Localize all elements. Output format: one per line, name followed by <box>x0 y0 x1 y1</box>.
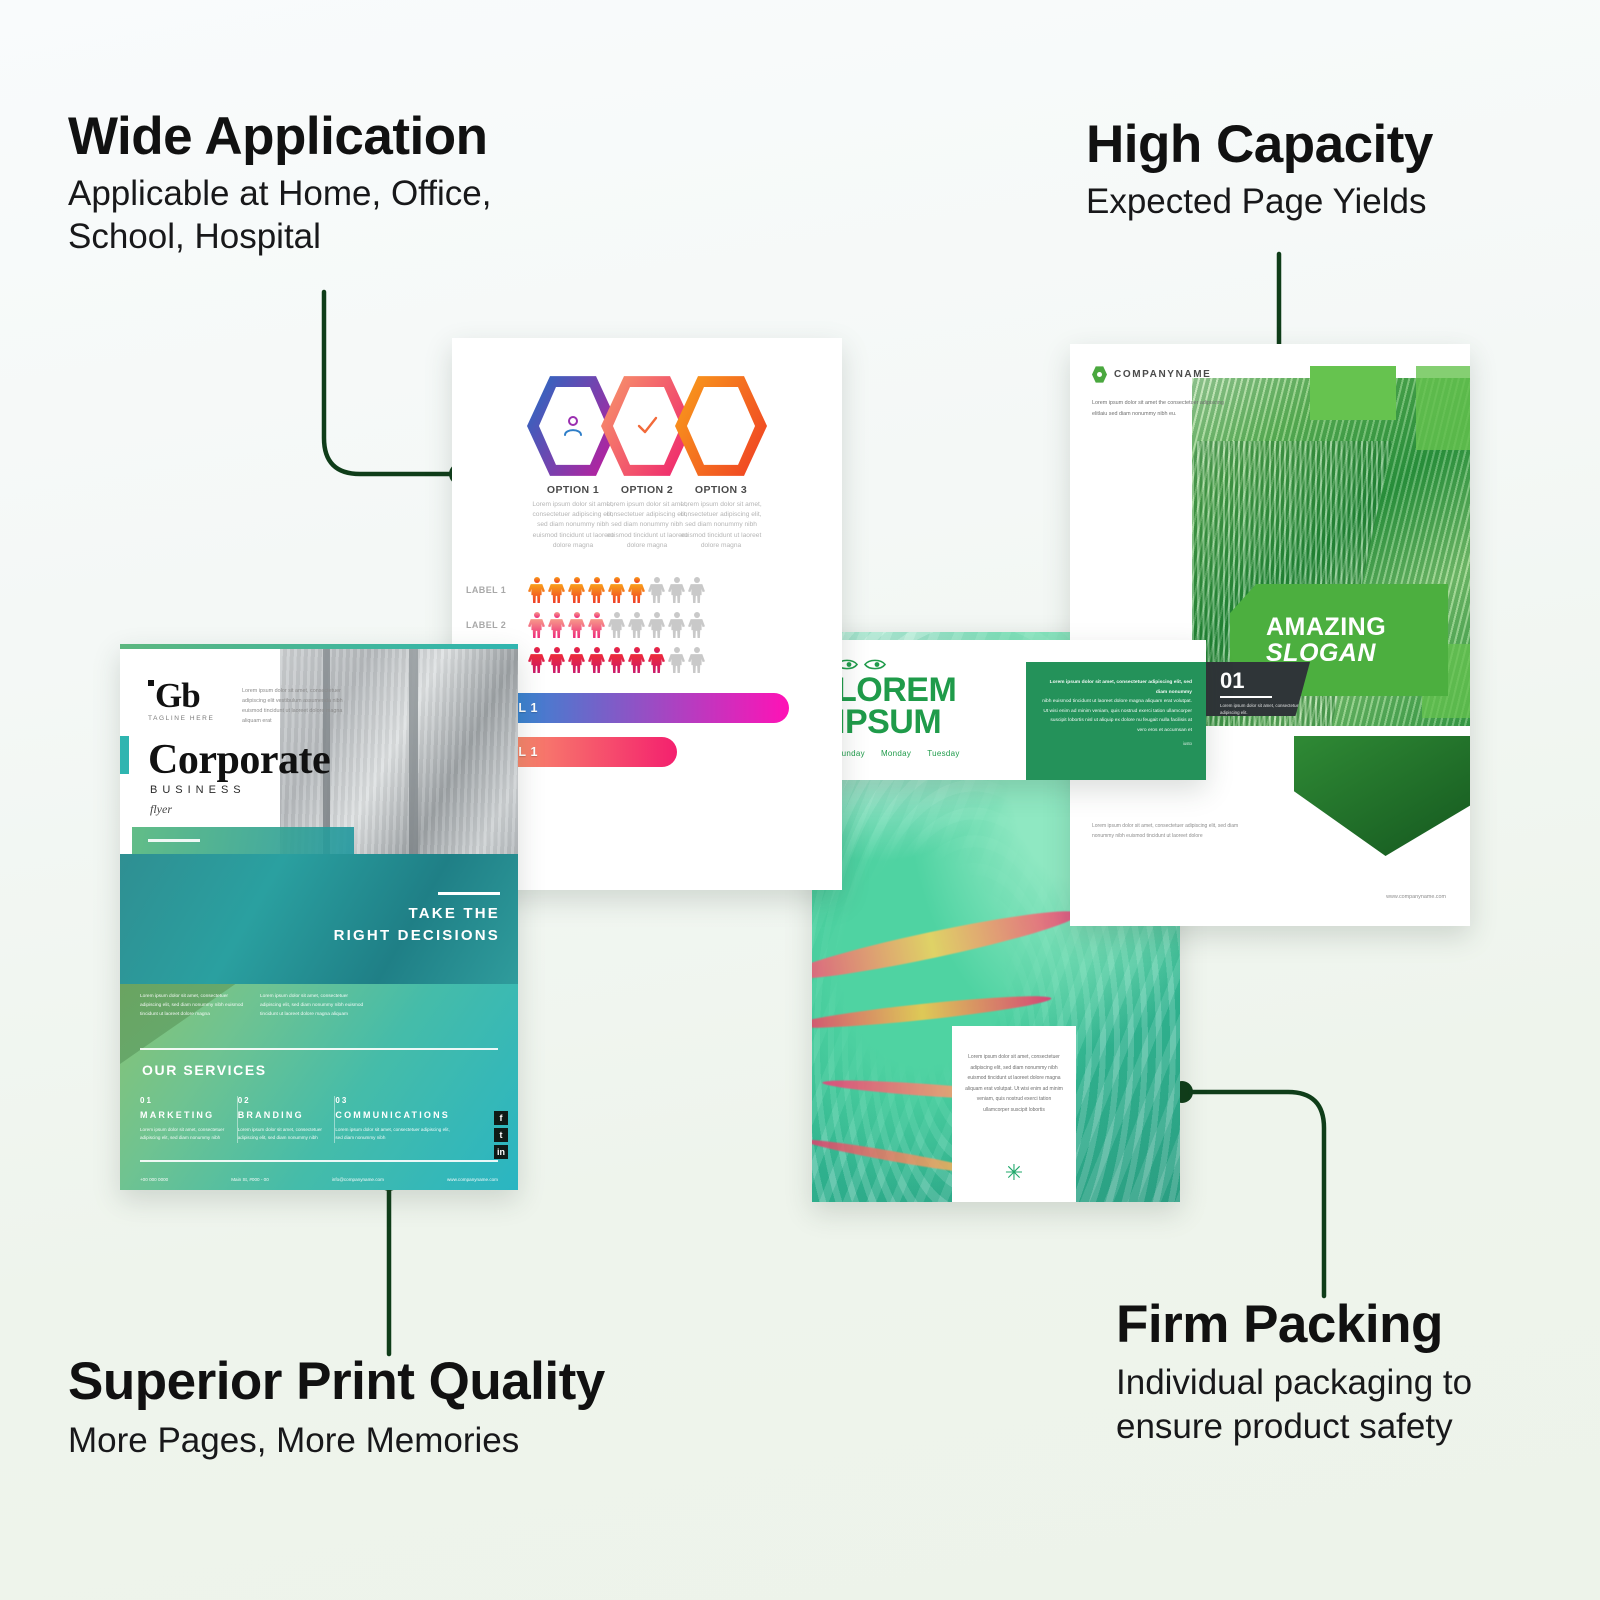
feature-title: Wide Application <box>68 110 491 163</box>
feature-subtitle: Expected Page Yields <box>1086 181 1433 224</box>
brochure-logo: COMPANYNAME <box>1092 366 1211 383</box>
lorem-body: nibh euismod tincidunt ut laoreet dolore… <box>1040 697 1192 735</box>
brochure-number-badge: 01 Lorem ipsum dolor sit amet, consectet… <box>1206 662 1310 716</box>
corp-service-2: 02 BRANDING Lorem ipsum dolor sit amet, … <box>238 1096 336 1143</box>
hexagon-row <box>452 374 842 478</box>
corp-separator-bottom <box>140 1160 498 1162</box>
person-icon-filled <box>588 577 605 603</box>
lorem-right-panel: Lorem ipsum dolor sit amet, consectetuer… <box>1026 662 1206 780</box>
corp-service-name-2: BRANDING <box>238 1110 325 1120</box>
lorem-left-panel: LOREM IPSUM Sunday Monday Tuesday <box>814 640 1030 780</box>
person-icon-empty <box>648 577 665 603</box>
corp-footer-web: www.companyname.com <box>447 1177 498 1182</box>
feature-subtitle: More Pages, More Memories <box>68 1420 605 1463</box>
twitter-icon[interactable]: t <box>494 1128 508 1142</box>
corp-decisions-line2: RIGHT DECISIONS <box>334 925 500 947</box>
lorem-days: Sunday Monday Tuesday <box>836 749 1030 758</box>
lorem-page: iusto <box>1040 741 1192 746</box>
person-icon-filled <box>548 647 565 673</box>
corp-decisions-line1: TAKE THE <box>334 903 500 925</box>
corp-decisions: TAKE THE RIGHT DECISIONS <box>334 892 500 947</box>
corp-logo-tagline: TAGLINE HERE <box>148 715 214 722</box>
corp-script: flyer <box>150 802 172 817</box>
bar-chart: LABEL 1LABEL 1 <box>466 693 842 767</box>
option-col-3: OPTION 3 Lorem ipsum dolor sit amet, con… <box>675 484 767 551</box>
corp-footer-address: Main St, #000 - 00 <box>231 1177 269 1182</box>
corp-service-1: 01 MARKETING Lorem ipsum dolor sit amet,… <box>140 1096 238 1143</box>
marble-text-card: Lorem ipsum dolor sit amet, consectetuer… <box>952 1026 1076 1202</box>
person-icon-filled <box>608 577 625 603</box>
person-icon-empty <box>648 612 665 638</box>
feature-firm-packing: Firm Packing Individual packaging to ens… <box>1116 1298 1472 1449</box>
person-icon-empty <box>668 647 685 673</box>
hexagon-option-3 <box>675 374 767 478</box>
corp-footer: +00 000 0000 Main St, #000 - 00 info@com… <box>140 1177 498 1182</box>
day-2: Tuesday <box>927 749 960 758</box>
person-icon-filled <box>548 612 565 638</box>
facebook-icon[interactable]: f <box>494 1111 508 1125</box>
feature-high-capacity: High Capacity Expected Page Yields <box>1086 118 1433 224</box>
pictogram-label: LABEL 1 <box>466 585 528 595</box>
person-icon-filled <box>568 612 585 638</box>
brochure-chip-2 <box>1416 366 1470 450</box>
corp-footer-email: info@companyname.com <box>332 1177 384 1182</box>
corp-social-icons[interactable]: f t in <box>494 1111 508 1162</box>
corp-paragraph-2: Lorem ipsum dolor sit amet, consectetuer… <box>260 992 368 1019</box>
corp-header-blurb: Lorem ipsum dolor sit amet, consectetuer… <box>242 686 362 726</box>
person-icon-filled <box>608 647 625 673</box>
corp-service-num-3: 03 <box>335 1096 450 1105</box>
poster-green-brochure[interactable]: COMPANYNAME Lorem ipsum dolor sit amet t… <box>1070 344 1470 926</box>
marble-body-text: Lorem ipsum dolor sit amet, consectetuer… <box>964 1052 1064 1115</box>
poster-corporate-flyer[interactable]: Gb TAGLINE HERE Lorem ipsum dolor sit am… <box>120 644 518 1190</box>
person-icon-filled <box>588 647 605 673</box>
person-icon-empty <box>608 612 625 638</box>
brochure-website: www.companyname.com <box>1386 894 1446 900</box>
linkedin-icon[interactable]: in <box>494 1145 508 1159</box>
person-icon <box>560 413 586 439</box>
feature-wide-application: Wide Application Applicable at Home, Off… <box>68 110 491 258</box>
feature-superior-print-quality: Superior Print Quality More Pages, More … <box>68 1355 605 1463</box>
person-icon-filled <box>648 647 665 673</box>
person-icon-filled <box>528 647 545 673</box>
person-icon-filled <box>548 577 565 603</box>
person-icon-empty <box>628 612 645 638</box>
person-icon-empty <box>668 577 685 603</box>
pictogram-row: LABEL 1 <box>466 577 842 603</box>
option-labels: OPTION 1 Lorem ipsum dolor sit amet, con… <box>452 484 842 551</box>
option-title-3: OPTION 3 <box>679 484 763 496</box>
corp-accent-bar <box>120 736 129 774</box>
corp-services-columns: 01 MARKETING Lorem ipsum dolor sit amet,… <box>140 1096 460 1143</box>
corp-service-text-1: Lorem ipsum dolor sit amet, consectetuer… <box>140 1126 227 1143</box>
feature-subtitle: Applicable at Home, Office, School, Hosp… <box>68 173 491 258</box>
corp-service-text-2: Lorem ipsum dolor sit amet, consectetuer… <box>238 1126 325 1143</box>
corp-banner-dash <box>148 839 200 842</box>
person-icon-filled <box>628 577 645 603</box>
corp-logo-mark: Gb <box>148 680 214 712</box>
pictogram-label: LABEL 2 <box>466 620 528 630</box>
pictogram-people <box>528 612 705 638</box>
starburst-icon: ✳ <box>1005 1162 1023 1184</box>
pictogram-chart: LABEL 1LABEL 2LABEL 3 <box>466 577 842 673</box>
corp-service-3: 03 COMMUNICATIONS Lorem ipsum dolor sit … <box>335 1096 460 1143</box>
brochure-number-divider <box>1220 696 1272 698</box>
person-icon-empty <box>688 577 705 603</box>
person-icon-filled <box>628 647 645 673</box>
corp-paragraph-1: Lorem ipsum dolor sit amet, consectetuer… <box>140 992 248 1019</box>
corp-service-text-3: Lorem ipsum dolor sit amet, consectetuer… <box>335 1126 450 1143</box>
person-icon-filled <box>528 612 545 638</box>
corp-services-heading: OUR SERVICES <box>142 1062 267 1078</box>
person-icon-filled <box>568 577 585 603</box>
pictogram-row: LABEL 2 <box>466 612 842 638</box>
corp-title: Corporate <box>148 736 330 784</box>
person-icon-filled <box>528 577 545 603</box>
corp-service-name-3: COMMUNICATIONS <box>335 1110 450 1120</box>
feature-title: Superior Print Quality <box>68 1355 605 1408</box>
connector-superior-print-quality <box>370 1168 430 1358</box>
hexagon-logo-icon <box>1092 366 1107 383</box>
corp-separator-top <box>140 1048 498 1050</box>
person-icon-empty <box>688 647 705 673</box>
corp-service-num-2: 02 <box>238 1096 325 1105</box>
corp-subtitle: BUSINESS <box>150 784 246 796</box>
corp-service-name-1: MARKETING <box>140 1110 227 1120</box>
feature-title: High Capacity <box>1086 118 1433 171</box>
corp-decisions-dash <box>438 892 500 895</box>
poster-lorem-ipsum[interactable]: LOREM IPSUM Sunday Monday Tuesday Lorem … <box>814 640 1206 780</box>
pictogram-people <box>528 577 705 603</box>
person-icon-empty <box>668 612 685 638</box>
check-icon <box>634 413 660 439</box>
pictogram-row: LABEL 3 <box>466 647 842 673</box>
day-1: Monday <box>881 749 911 758</box>
person-icon-empty <box>688 612 705 638</box>
eye-icons <box>836 658 1030 671</box>
corp-logo: Gb TAGLINE HERE <box>148 680 214 722</box>
brochure-lower-text: Lorem ipsum dolor sit amet, consectetuer… <box>1092 822 1242 842</box>
pictogram-people <box>528 647 705 673</box>
lorem-title-line2: IPSUM <box>836 706 1030 738</box>
option-body-3: Lorem ipsum dolor sit amet, consectetuer… <box>679 500 763 551</box>
brochure-number-text: Lorem ipsum dolor sit amet, consectetuer… <box>1220 702 1302 717</box>
connector-firm-packing <box>1168 1080 1368 1300</box>
lorem-title-line1: LOREM <box>836 674 1030 706</box>
person-icon-filled <box>588 612 605 638</box>
corp-footer-phone: +00 000 0000 <box>140 1177 168 1182</box>
brochure-chip-1 <box>1310 366 1396 420</box>
feature-subtitle: Individual packaging to ensure product s… <box>1116 1361 1472 1449</box>
brochure-company-name: COMPANYNAME <box>1114 369 1211 380</box>
eye-icon-2 <box>864 658 886 671</box>
brochure-blurb: Lorem ipsum dolor sit amet the consectet… <box>1092 398 1228 419</box>
lorem-body-bold: Lorem ipsum dolor sit amet, consectetuer… <box>1040 678 1192 697</box>
person-icon-filled <box>568 647 585 673</box>
brochure-slogan-line1: AMAZING <box>1266 614 1448 640</box>
brochure-number: 01 <box>1220 670 1310 692</box>
feature-title: Firm Packing <box>1116 1298 1472 1351</box>
corp-service-num-1: 01 <box>140 1096 227 1105</box>
